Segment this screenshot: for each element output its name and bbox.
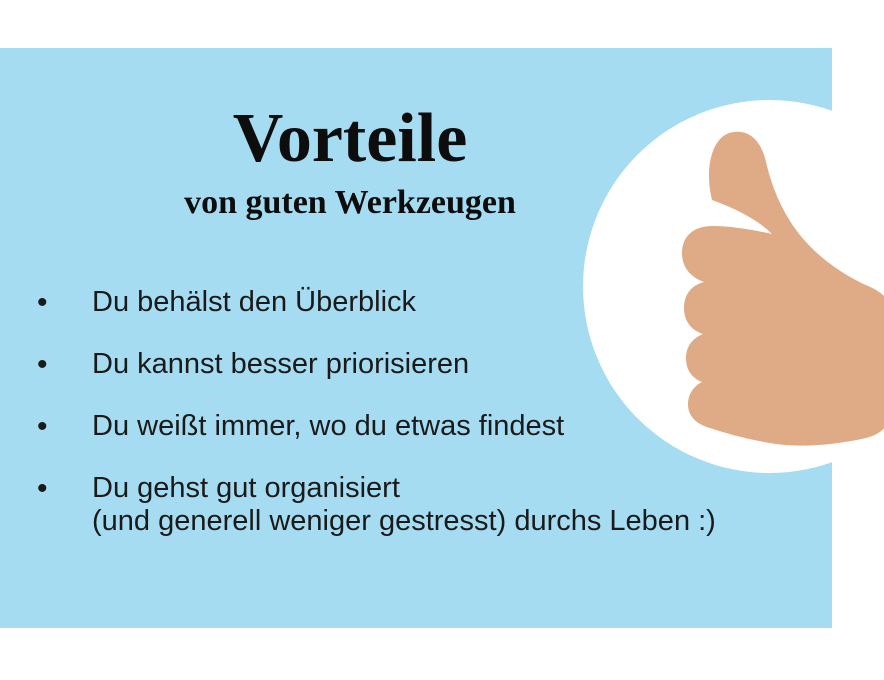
list-item-label: Du behälst den Überblick <box>92 286 794 319</box>
benefits-list: • Du behälst den Überblick • Du kannst b… <box>34 286 794 538</box>
list-item: • Du weißt immer, wo du etwas findest <box>34 410 794 443</box>
bullet-point-icon: • <box>34 472 92 505</box>
list-item-label: Du kannst besser priorisieren <box>92 348 794 381</box>
list-item: • Du behälst den Überblick <box>34 286 794 319</box>
bullet-point-icon: • <box>34 286 92 319</box>
list-item: • Du gehst gut organisiert (und generell… <box>34 472 794 538</box>
slide-canvas: Vorteile von guten Werkzeugen • Du behäl… <box>0 0 884 680</box>
bullet-point-icon: • <box>34 410 92 443</box>
list-item: • Du kannst besser priorisieren <box>34 348 794 381</box>
list-item-label: Du gehst gut organisiert (und generell w… <box>92 472 794 538</box>
bullet-point-icon: • <box>34 348 92 381</box>
list-item-label: Du weißt immer, wo du etwas findest <box>92 410 794 443</box>
